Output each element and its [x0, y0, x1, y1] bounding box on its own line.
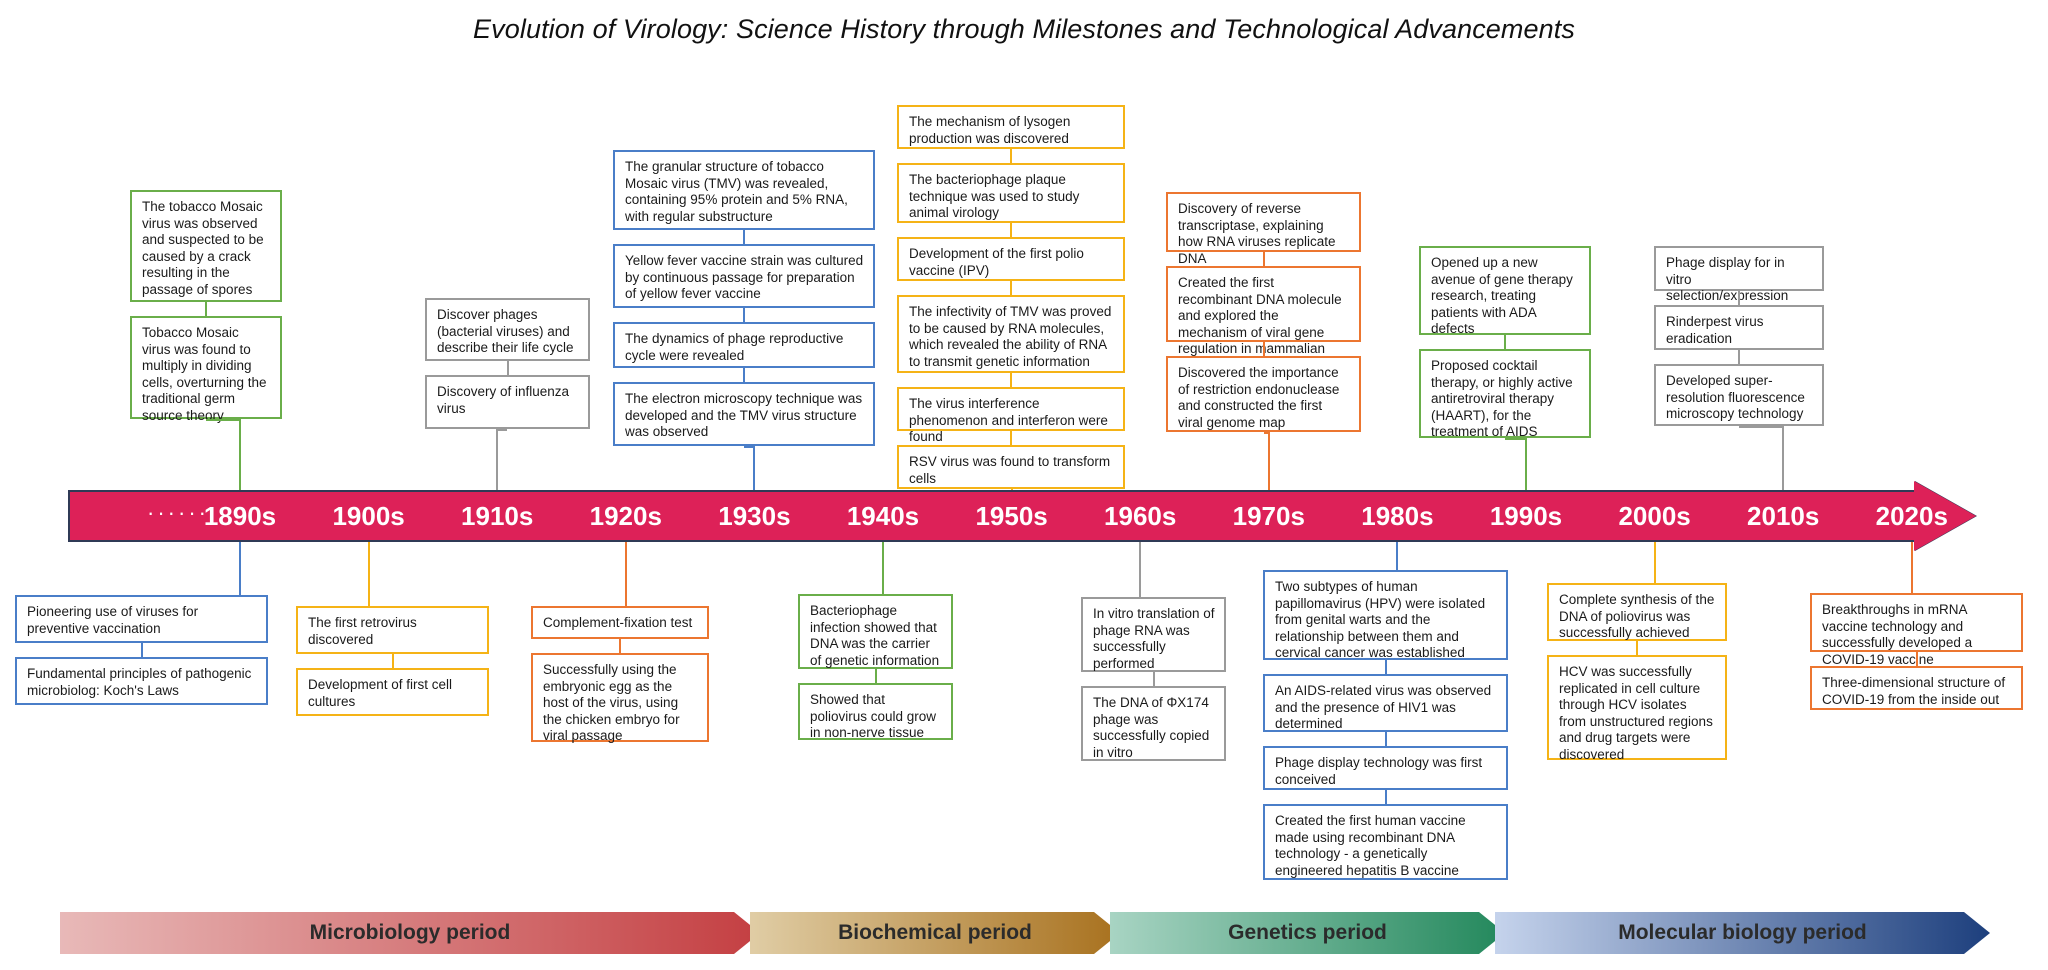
timeline-decade-2010s[interactable]: 2010s	[1747, 490, 1819, 542]
milestone-box[interactable]: An AIDS-related virus was observed and t…	[1263, 674, 1508, 732]
connector-line	[392, 654, 394, 668]
timeline-decade-1930s[interactable]: 1930s	[718, 490, 790, 542]
timeline-decade-1980s[interactable]: 1980s	[1361, 490, 1433, 542]
timeline-connector	[368, 542, 370, 606]
timeline-decade-1970s[interactable]: 1970s	[1233, 490, 1305, 542]
timeline-decade-2020s[interactable]: 2020s	[1876, 490, 1948, 542]
connector-line	[1010, 149, 1012, 163]
connector-line	[1504, 335, 1506, 349]
milestone-box[interactable]: In vitro translation of phage RNA was su…	[1081, 597, 1226, 672]
timeline-connector	[625, 542, 627, 606]
milestone-box[interactable]: Development of the first polio vaccine (…	[897, 237, 1125, 281]
connector-line	[743, 308, 745, 322]
connector-line	[619, 639, 621, 653]
milestone-box[interactable]: HCV was successfully replicated in cell …	[1547, 655, 1727, 760]
timeline-decade-1900s[interactable]: 1900s	[332, 490, 404, 542]
milestone-box[interactable]: Successfully using the embryonic egg as …	[531, 653, 709, 742]
connector-elbow	[1140, 597, 1153, 599]
milestone-box[interactable]: Fundamental principles of pathogenic mic…	[15, 657, 268, 705]
connector-line	[507, 361, 509, 375]
period-segment-2[interactable]: Genetics period	[1110, 912, 1505, 954]
connector-line	[1263, 252, 1265, 266]
milestone-box[interactable]: Showed that poliovirus could grow in non…	[798, 683, 953, 740]
milestone-box[interactable]: Development of first cell cultures	[296, 668, 489, 716]
connector-line	[1738, 291, 1740, 305]
milestone-box[interactable]: Bacteriophage infection showed that DNA …	[798, 594, 953, 669]
connector-line	[875, 669, 877, 683]
connector-elbow	[1912, 593, 1917, 595]
timeline-axis: ······ 1890s1900s1910s1920s1930s1940s195…	[68, 490, 1980, 542]
connector-line	[1385, 732, 1387, 746]
connector-line	[1385, 790, 1387, 804]
connector-elbow	[620, 606, 626, 608]
milestone-box[interactable]: Phage display for in vitro selection/exp…	[1654, 246, 1824, 291]
connector-line	[1010, 223, 1012, 237]
milestone-box[interactable]: Breakthroughs in mRNA vaccine technology…	[1810, 593, 2023, 652]
connector-line	[1916, 652, 1918, 666]
connector-line	[205, 302, 207, 316]
timeline-leading-dots: ······	[147, 490, 209, 542]
timeline-decade-1940s[interactable]: 1940s	[847, 490, 919, 542]
milestone-box[interactable]: The first retrovirus discovered	[296, 606, 489, 654]
milestone-box[interactable]: Rinderpest virus eradication	[1654, 305, 1824, 350]
milestone-box[interactable]: Discovery of reverse transcriptase, expl…	[1166, 192, 1361, 252]
timeline-connector	[239, 419, 241, 490]
connector-elbow	[1386, 570, 1398, 572]
milestone-box[interactable]: The tobacco Mosaic virus was observed an…	[130, 190, 282, 302]
connector-elbow	[206, 419, 240, 421]
timeline-connector	[239, 542, 241, 595]
timeline-connector	[496, 429, 498, 490]
connector-elbow	[369, 606, 393, 608]
timeline-decade-2000s[interactable]: 2000s	[1618, 490, 1690, 542]
milestone-box[interactable]: The mechanism of lysogen production was …	[897, 105, 1125, 149]
connector-line	[1738, 350, 1740, 364]
connector-line	[1010, 431, 1012, 445]
connector-elbow	[1637, 583, 1655, 585]
milestone-box[interactable]: Phage display technology was first conce…	[1263, 746, 1508, 790]
timeline-decade-1950s[interactable]: 1950s	[975, 490, 1047, 542]
period-segment-3[interactable]: Molecular biology period	[1495, 912, 1990, 954]
timeline-decade-1960s[interactable]: 1960s	[1104, 490, 1176, 542]
milestone-box[interactable]: The infectivity of TMV was proved to be …	[897, 295, 1125, 373]
connector-line	[743, 230, 745, 244]
connector-line	[1385, 660, 1387, 674]
connector-line	[141, 643, 143, 657]
connector-elbow	[1505, 438, 1526, 440]
timeline-connector	[1911, 542, 1913, 593]
milestone-box[interactable]: Discover phages (bacterial viruses) and …	[425, 298, 590, 361]
connector-line	[1010, 373, 1012, 387]
milestone-box[interactable]: Three-dimensional structure of COVID-19 …	[1810, 666, 2023, 710]
timeline-connector	[882, 542, 884, 594]
connector-elbow	[876, 594, 884, 596]
connector-line	[1153, 672, 1155, 686]
milestone-box[interactable]: The dynamics of phage reproductive cycle…	[613, 322, 875, 368]
milestone-box[interactable]: Developed super-resolution fluorescence …	[1654, 364, 1824, 426]
milestone-box[interactable]: RSV virus was found to transform cells	[897, 445, 1125, 489]
timeline-connector	[1525, 438, 1527, 490]
connector-elbow	[497, 429, 507, 431]
page-title: Evolution of Virology: Science History t…	[0, 14, 2048, 45]
timeline-connector	[1268, 432, 1270, 490]
timeline-connector	[1139, 542, 1141, 597]
milestone-box[interactable]: Created the first recombinant DNA molecu…	[1166, 266, 1361, 342]
milestone-box[interactable]: The bacteriophage plaque technique was u…	[897, 163, 1125, 223]
milestone-box[interactable]: Opened up a new avenue of gene therapy r…	[1419, 246, 1591, 335]
timeline-connector	[753, 446, 755, 490]
milestone-box[interactable]: Created the first human vaccine made usi…	[1263, 804, 1508, 880]
connector-line	[1636, 641, 1638, 655]
period-segment-1[interactable]: Biochemical period	[750, 912, 1120, 954]
timeline-connector	[1782, 426, 1784, 490]
timeline-decade-1910s[interactable]: 1910s	[461, 490, 533, 542]
connector-elbow	[142, 595, 241, 597]
milestone-box[interactable]: Discovered the importance of restriction…	[1166, 356, 1361, 432]
milestone-box[interactable]: Complement-fixation test	[531, 606, 709, 639]
timeline-connector	[1654, 542, 1656, 583]
milestone-box[interactable]: Discovery of influenza virus	[425, 375, 590, 429]
connector-line	[1010, 281, 1012, 295]
connector-line	[743, 368, 745, 382]
milestone-box[interactable]: Proposed cocktail therapy, or highly act…	[1419, 349, 1591, 438]
period-segment-0[interactable]: Microbiology period	[60, 912, 760, 954]
milestone-box[interactable]: The virus interference phenomenon and in…	[897, 387, 1125, 431]
milestone-box[interactable]: Two subtypes of human papillomavirus (HP…	[1263, 570, 1508, 660]
timeline-connector	[1396, 542, 1398, 570]
timeline-decade-1890s[interactable]: 1890s	[204, 490, 276, 542]
milestone-box[interactable]: Tobacco Mosaic virus was found to multip…	[130, 316, 282, 419]
timeline-decade-1920s[interactable]: 1920s	[590, 490, 662, 542]
milestone-box[interactable]: Yellow fever vaccine strain was cultured…	[613, 244, 875, 308]
period-bar: Microbiology periodBiochemical periodGen…	[60, 912, 1988, 954]
milestone-box[interactable]: The electron microscopy technique was de…	[613, 382, 875, 446]
connector-line	[1263, 342, 1265, 356]
connector-elbow	[1739, 426, 1783, 428]
milestone-box[interactable]: Complete synthesis of the DNA of poliovi…	[1547, 583, 1727, 641]
timeline-decade-1990s[interactable]: 1990s	[1490, 490, 1562, 542]
milestone-box[interactable]: The granular structure of tobacco Mosaic…	[613, 150, 875, 230]
milestone-box[interactable]: The DNA of ΦX174 phage was successfully …	[1081, 686, 1226, 761]
milestone-box[interactable]: Pioneering use of viruses for preventive…	[15, 595, 268, 643]
